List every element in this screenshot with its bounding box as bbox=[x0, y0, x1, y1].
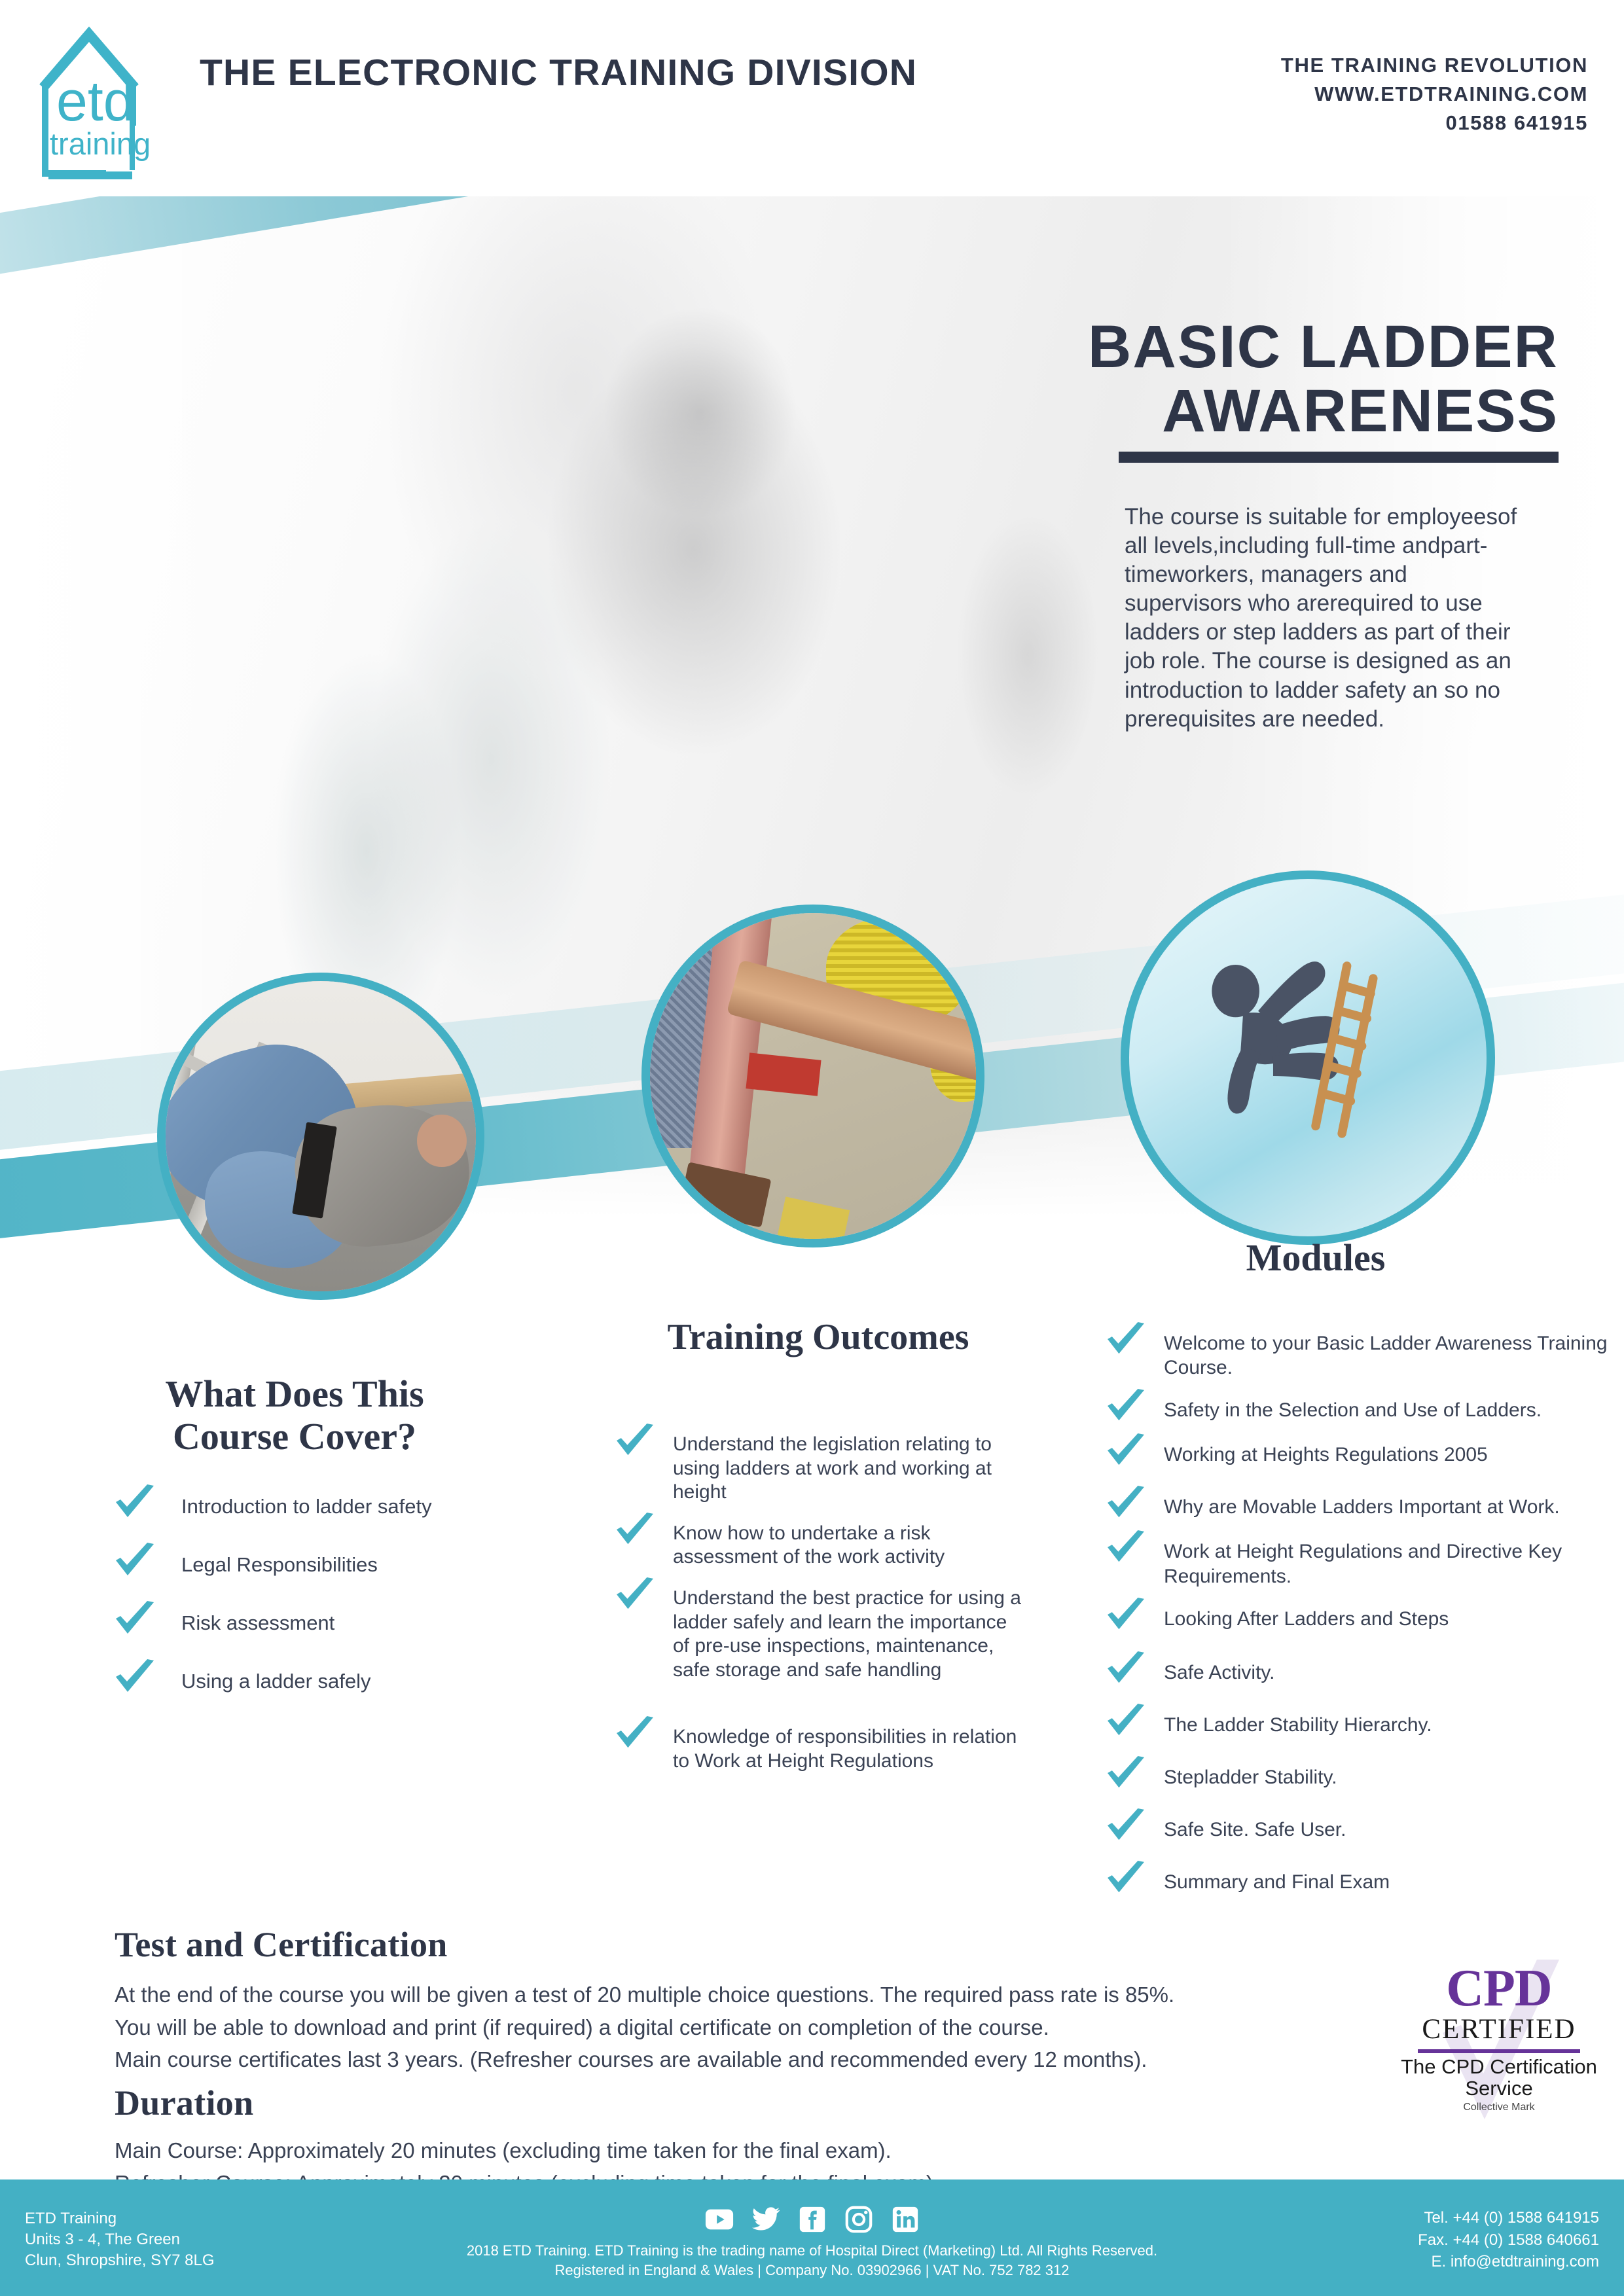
footer-fax: Fax. +44 (0) 1588 640661 bbox=[1418, 2229, 1599, 2251]
title-underline bbox=[1119, 452, 1559, 463]
linkedin-icon[interactable] bbox=[890, 2204, 920, 2234]
social-links bbox=[354, 2204, 1271, 2234]
company-title: THE ELECTRONIC TRAINING DIVISION bbox=[200, 51, 917, 94]
list-item: Introduction to ladder safety bbox=[115, 1484, 520, 1521]
footer-address-line3: Clun, Shropshire, SY7 8LG bbox=[25, 2250, 215, 2271]
cpd-certified-badge: CPD CERTIFIED The CPD Certification Serv… bbox=[1401, 1964, 1597, 2160]
list-item: Summary and Final Exam bbox=[1106, 1861, 1623, 1896]
tagline: THE TRAINING REVOLUTION bbox=[1281, 51, 1588, 80]
youtube-icon[interactable] bbox=[704, 2204, 734, 2234]
falling-person-ladder-icon bbox=[1121, 870, 1495, 1245]
list-item: Legal Responsibilities bbox=[115, 1543, 520, 1579]
list-item: Risk assessment bbox=[115, 1601, 520, 1638]
check-icon bbox=[115, 1601, 155, 1638]
duration-heading: Duration bbox=[115, 2083, 1227, 2123]
module-item-text: Safe Site. Safe User. bbox=[1164, 1808, 1346, 1842]
footer-legal: 2018 ETD Training. ETD Training is the t… bbox=[354, 2241, 1271, 2281]
modules-list: Welcome to your Basic Ladder Awareness T… bbox=[1106, 1322, 1623, 1905]
test-line-2: You will be able to download and print (… bbox=[115, 2012, 1384, 2043]
check-icon bbox=[1106, 1389, 1146, 1424]
website[interactable]: WWW.ETDTRAINING.COM bbox=[1281, 80, 1588, 109]
footer-address: ETD Training Units 3 - 4, The Green Clun… bbox=[25, 2208, 215, 2271]
footer-legal-line2: Registered in England & Wales | Company … bbox=[354, 2261, 1271, 2280]
cover-list: Introduction to ladder safety Legal Resp… bbox=[115, 1484, 520, 1717]
check-icon bbox=[1106, 1530, 1146, 1566]
footer-contact: Tel. +44 (0) 1588 641915 Fax. +44 (0) 15… bbox=[1418, 2207, 1599, 2273]
footer-center: 2018 ETD Training. ETD Training is the t… bbox=[354, 2204, 1271, 2281]
list-item: Stepladder Stability. bbox=[1106, 1756, 1623, 1791]
module-item-text: The Ladder Stability Hierarchy. bbox=[1164, 1704, 1432, 1737]
footer-address-line2: Units 3 - 4, The Green bbox=[25, 2229, 215, 2250]
list-item: Working at Heights Regulations 2005 bbox=[1106, 1433, 1623, 1469]
damaged-ladder-photo bbox=[641, 905, 984, 1247]
course-description: The course is suitable for employeesof a… bbox=[1125, 503, 1530, 734]
outcome-item-text: Know how to undertake a risk assessment … bbox=[673, 1513, 1021, 1570]
test-line-3: Main course certificates last 3 years. (… bbox=[115, 2044, 1384, 2075]
page-header: etd training THE ELECTRONIC TRAINING DIV… bbox=[0, 0, 1624, 196]
footer-tel[interactable]: Tel. +44 (0) 1588 641915 bbox=[1418, 2207, 1599, 2229]
test-heading: Test and Certification bbox=[115, 1924, 1384, 1965]
check-icon bbox=[1106, 1486, 1146, 1521]
list-item: Understand the legislation relating to u… bbox=[615, 1424, 1021, 1505]
check-icon bbox=[1106, 1808, 1146, 1844]
twitter-icon[interactable] bbox=[751, 2204, 781, 2234]
check-icon bbox=[1106, 1433, 1146, 1469]
list-item: Work at Height Regulations and Directive… bbox=[1106, 1530, 1623, 1588]
check-icon bbox=[615, 1424, 655, 1459]
list-item: Why are Movable Ladders Important at Wor… bbox=[1106, 1486, 1623, 1521]
page-title-line2: AWARENESS bbox=[1088, 380, 1559, 444]
list-item: Safe Site. Safe User. bbox=[1106, 1808, 1623, 1844]
module-item-text: Looking After Ladders and Steps bbox=[1164, 1598, 1449, 1631]
check-icon bbox=[1106, 1322, 1146, 1357]
page-title-line1: BASIC LADDER bbox=[1088, 315, 1559, 380]
cpd-certified-text: CERTIFIED bbox=[1401, 2013, 1597, 2045]
check-icon bbox=[1106, 1861, 1146, 1896]
outcome-item-text: Understand the best practice for using a… bbox=[673, 1577, 1021, 1682]
cover-heading: What Does This Course Cover? bbox=[111, 1373, 478, 1458]
module-item-text: Working at Heights Regulations 2005 bbox=[1164, 1433, 1488, 1467]
test-line-1: At the end of the course you will be giv… bbox=[115, 1979, 1384, 2011]
footer-email[interactable]: E. info@etdtraining.com bbox=[1418, 2251, 1599, 2273]
module-item-text: Stepladder Stability. bbox=[1164, 1756, 1337, 1789]
check-icon bbox=[115, 1659, 155, 1696]
cover-item-text: Introduction to ladder safety bbox=[181, 1484, 432, 1519]
list-item: Using a ladder safely bbox=[115, 1659, 520, 1696]
falling-person-icon bbox=[1172, 936, 1444, 1186]
module-item-text: Work at Height Regulations and Directive… bbox=[1164, 1530, 1623, 1588]
list-item: Safe Activity. bbox=[1106, 1651, 1623, 1687]
list-item: Looking After Ladders and Steps bbox=[1106, 1598, 1623, 1633]
page-footer: ETD Training Units 3 - 4, The Green Clun… bbox=[0, 2179, 1624, 2296]
footer-address-line1: ETD Training bbox=[25, 2208, 215, 2229]
svg-text:training: training bbox=[50, 126, 151, 161]
etd-logo: etd training bbox=[33, 14, 196, 183]
check-icon bbox=[615, 1716, 655, 1751]
cover-item-text: Using a ladder safely bbox=[181, 1659, 371, 1694]
cover-item-text: Risk assessment bbox=[181, 1601, 334, 1636]
cpd-logo-text: CPD bbox=[1401, 1964, 1597, 2013]
check-icon bbox=[1106, 1651, 1146, 1687]
check-icon bbox=[1106, 1598, 1146, 1633]
outcome-item-text: Knowledge of responsibilities in relatio… bbox=[673, 1716, 1021, 1773]
facebook-icon[interactable] bbox=[797, 2204, 827, 2234]
modules-heading: Modules bbox=[1152, 1237, 1479, 1280]
header-contact-block: THE TRAINING REVOLUTION WWW.ETDTRAINING.… bbox=[1281, 51, 1588, 137]
list-item: Welcome to your Basic Ladder Awareness T… bbox=[1106, 1322, 1623, 1380]
outcome-item-text: Understand the legislation relating to u… bbox=[673, 1424, 1021, 1505]
module-item-text: Safe Activity. bbox=[1164, 1651, 1275, 1685]
svg-text:etd: etd bbox=[56, 70, 135, 133]
cpd-divider bbox=[1418, 2049, 1580, 2053]
test-certification-section: Test and Certification At the end of the… bbox=[115, 1924, 1384, 2075]
outcomes-list: Understand the legislation relating to u… bbox=[615, 1424, 1021, 1782]
outcomes-heading: Training Outcomes bbox=[655, 1317, 982, 1358]
list-item: Know how to undertake a risk assessment … bbox=[615, 1513, 1021, 1570]
module-item-text: Welcome to your Basic Ladder Awareness T… bbox=[1164, 1322, 1623, 1380]
cpd-service-text: The CPD Certification Service bbox=[1401, 2056, 1597, 2100]
check-icon bbox=[1106, 1756, 1146, 1791]
phone[interactable]: 01588 641915 bbox=[1281, 109, 1588, 137]
flyer-page: etd training THE ELECTRONIC TRAINING DIV… bbox=[0, 0, 1624, 2296]
check-icon bbox=[115, 1484, 155, 1521]
check-icon bbox=[1106, 1704, 1146, 1739]
cover-item-text: Legal Responsibilities bbox=[181, 1543, 378, 1577]
check-icon bbox=[115, 1543, 155, 1579]
list-item: Knowledge of responsibilities in relatio… bbox=[615, 1716, 1021, 1773]
list-item: Understand the best practice for using a… bbox=[615, 1577, 1021, 1682]
list-item: The Ladder Stability Hierarchy. bbox=[1106, 1704, 1623, 1739]
footer-legal-line1: 2018 ETD Training. ETD Training is the t… bbox=[354, 2241, 1271, 2261]
instagram-icon[interactable] bbox=[844, 2204, 874, 2234]
fallen-worker-photo bbox=[157, 973, 484, 1300]
page-title: BASIC LADDER AWARENESS bbox=[1088, 315, 1559, 443]
module-item-text: Summary and Final Exam bbox=[1164, 1861, 1390, 1894]
check-icon bbox=[615, 1577, 655, 1613]
check-icon bbox=[615, 1513, 655, 1548]
duration-line-1: Main Course: Approximately 20 minutes (e… bbox=[115, 2135, 1227, 2166]
cpd-collective-mark: Collective Mark bbox=[1401, 2102, 1597, 2113]
list-item: Safety in the Selection and Use of Ladde… bbox=[1106, 1389, 1623, 1424]
module-item-text: Why are Movable Ladders Important at Wor… bbox=[1164, 1486, 1560, 1519]
module-item-text: Safety in the Selection and Use of Ladde… bbox=[1164, 1389, 1542, 1422]
